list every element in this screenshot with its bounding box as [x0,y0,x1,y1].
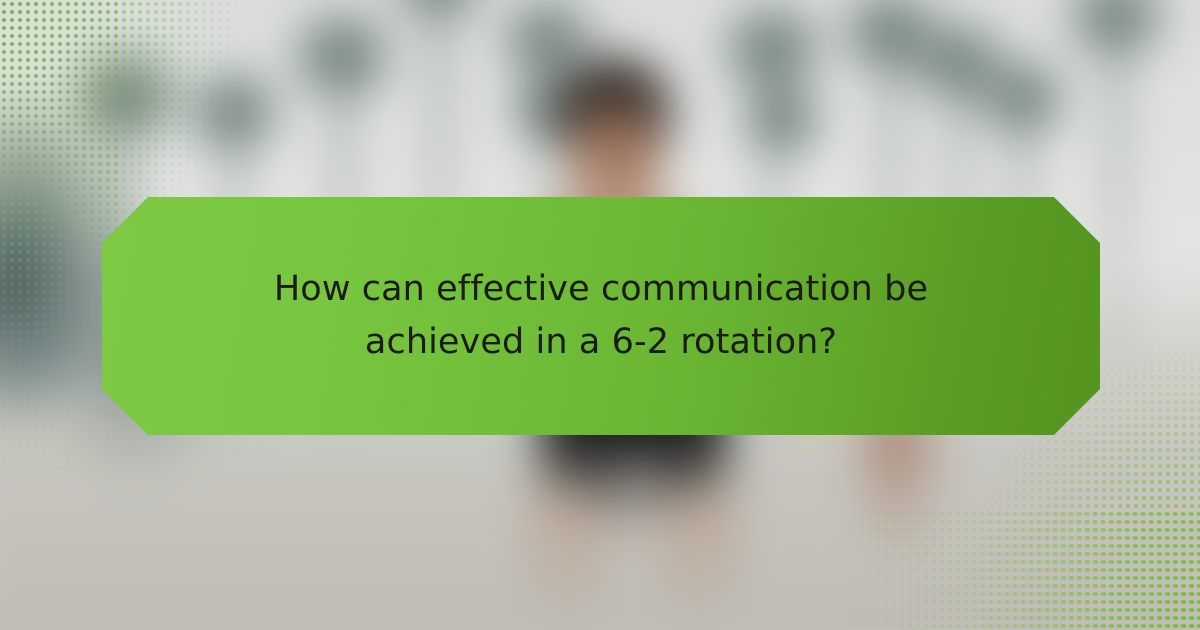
headline-banner: How can effective communication be achie… [102,197,1100,435]
page-title: How can effective communication be achie… [221,263,981,369]
palm-canopy [740,82,824,158]
dot-grid-bottom-right-row [770,510,1200,630]
question-card: How can effective communication be achie… [0,0,1200,630]
